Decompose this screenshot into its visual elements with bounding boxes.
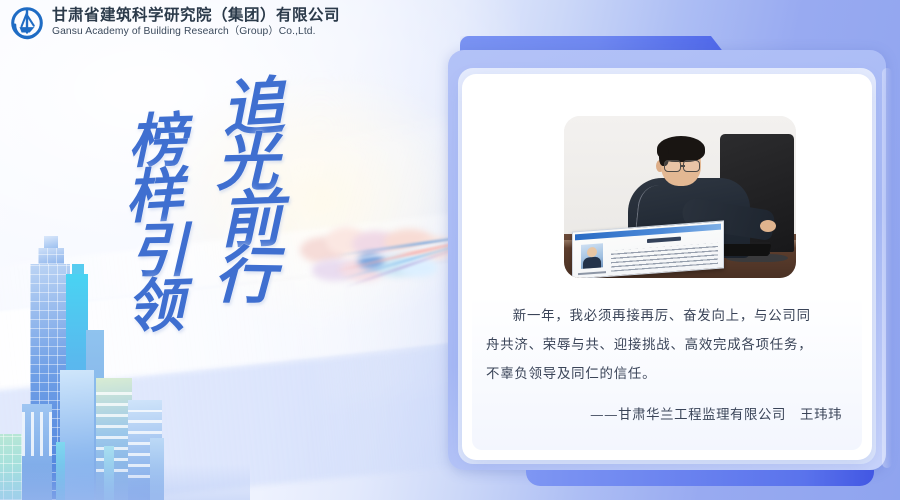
folder-content-area: 新一年，我必须再接再厉、奋发向上，与公司同 舟共济、荣辱与共、迎接挑战、高效完成… xyxy=(472,84,862,450)
headline-column-right: 追 光 前 行 xyxy=(218,78,280,307)
quote-attribution: ——甘肃华兰工程监理有限公司 王玮玮 xyxy=(486,401,848,430)
quote-block: 新一年，我必须再接再厉、奋发向上，与公司同 舟共济、荣辱与共、迎接挑战、高效完成… xyxy=(486,302,848,430)
quote-line-2: 舟共济、荣辱与共、迎接挑战、高效完成各项任务， xyxy=(486,331,848,360)
headline-char: 行 xyxy=(213,246,276,308)
quote-line-1: 新一年，我必须再接再厉、奋发向上，与公司同 xyxy=(486,302,848,331)
folder-bottom-accent xyxy=(526,470,874,486)
brand-header: 甘肃省建筑科学研究院（集团）有限公司 Gansu Academy of Buil… xyxy=(10,6,340,40)
headline-column-left: 榜 样 引 领 xyxy=(128,112,186,335)
certificate-display-card xyxy=(572,220,724,278)
company-name-en: Gansu Academy of Building Research（Group… xyxy=(52,27,340,38)
company-name-cn: 甘肃省建筑科学研究院（集团）有限公司 xyxy=(52,8,340,24)
poster-canvas: 甘肃省建筑科学研究院（集团）有限公司 Gansu Academy of Buil… xyxy=(0,0,900,500)
quote-line-3: 不辜负领导及同仁的信任。 xyxy=(486,360,848,389)
company-emblem-icon xyxy=(10,6,44,40)
folder-edge-sheen xyxy=(882,68,892,468)
city-skyline-illustration xyxy=(0,170,230,500)
quote-folder-card: 新一年，我必须再接再厉、奋发向上，与公司同 舟共济、荣辱与共、迎接挑战、高效完成… xyxy=(448,28,886,484)
employee-desk-photo xyxy=(564,116,796,278)
headline-char: 领 xyxy=(125,276,185,336)
